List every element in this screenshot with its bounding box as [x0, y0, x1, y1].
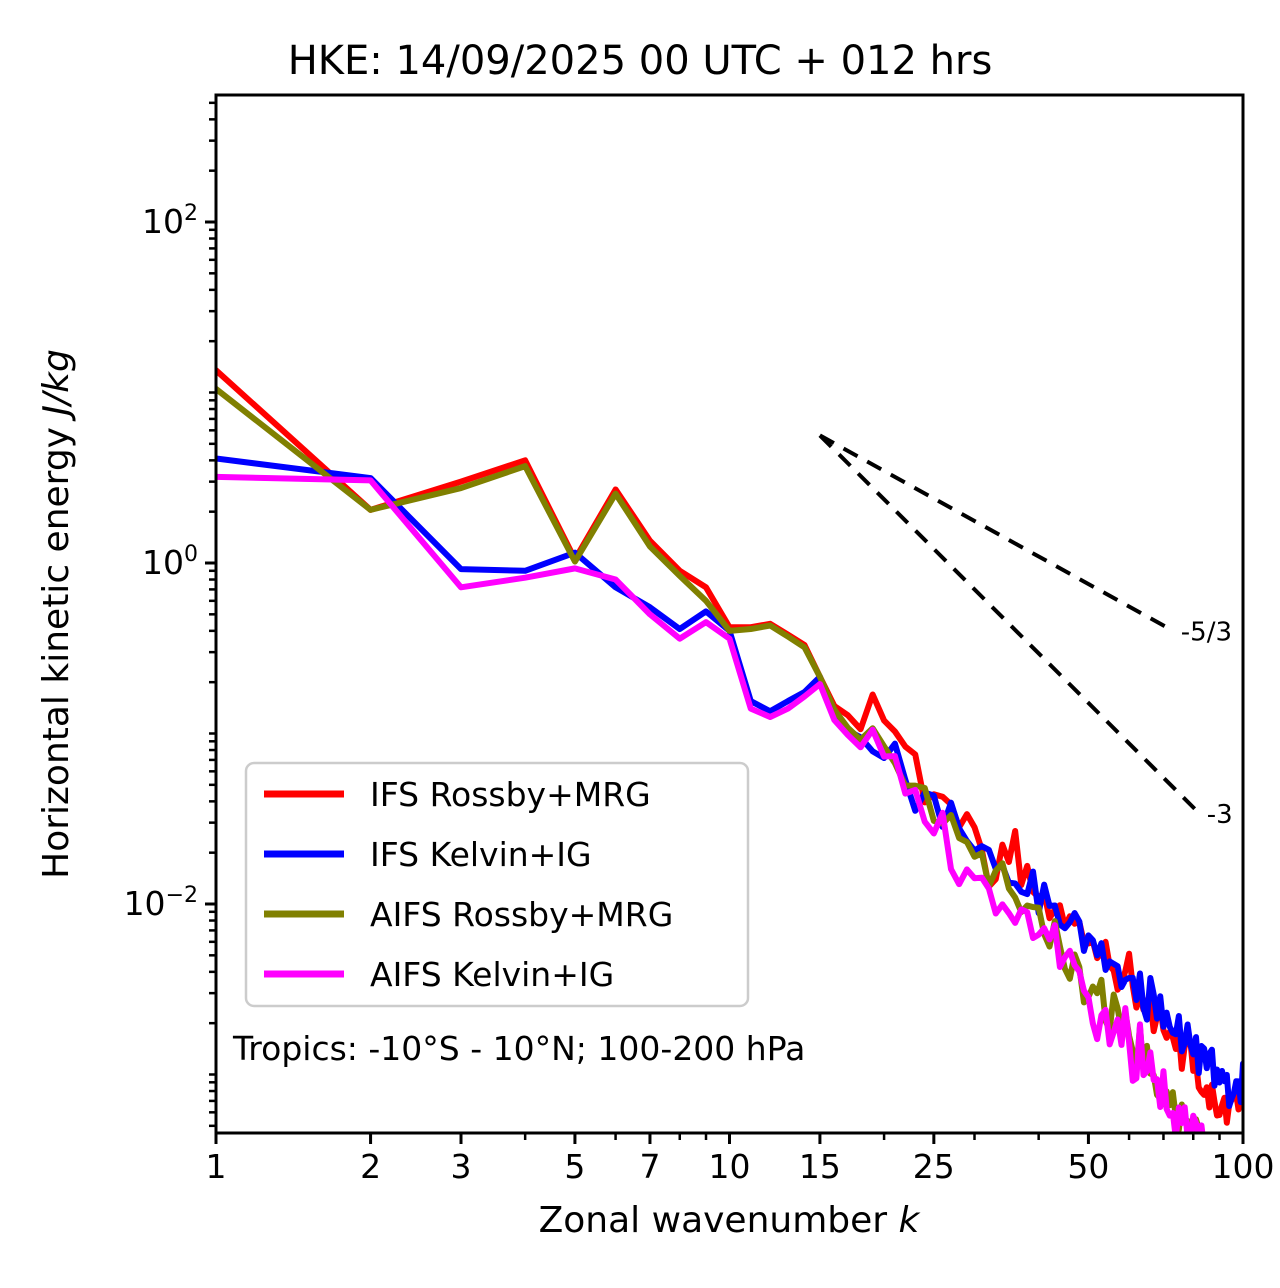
x-tick-label: 5	[564, 1147, 585, 1186]
legend-label: IFS Rossby+MRG	[370, 775, 651, 814]
chart-svg: 1235710152550100 10210010−2 -5/3-3 Zonal…	[0, 0, 1280, 1288]
reference-slope-label: -5/3	[1181, 618, 1232, 648]
reference-slope-label: -3	[1207, 800, 1233, 830]
x-tick-label: 25	[913, 1147, 955, 1186]
x-tick-label: 50	[1067, 1147, 1109, 1186]
x-tick-label: 2	[360, 1147, 381, 1186]
legend: IFS Rossby+MRG IFS Kelvin+IG AIFS Rossby…	[246, 763, 748, 1006]
x-axis-label: Zonal wavenumber k	[539, 1200, 922, 1241]
y-axis-label: Horizontal kinetic energy J/kg	[36, 349, 77, 879]
y-tick-labels: 10210010−2	[124, 201, 198, 923]
x-tick-labels: 1235710152550100	[206, 1147, 1275, 1186]
region-annotation: Tropics: -10°S - 10°N; 100-200 hPa	[232, 1029, 805, 1068]
legend-label: IFS Kelvin+IG	[370, 835, 592, 874]
y-tick-label: 102	[142, 201, 198, 241]
x-tick-label: 15	[799, 1147, 841, 1186]
x-tick-label: 100	[1212, 1147, 1275, 1186]
chart-page: HKE: 14/09/2025 00 UTC + 012 hrs 1235710…	[0, 0, 1280, 1288]
x-tick-label: 1	[206, 1147, 227, 1186]
y-tick-label: 10−2	[124, 883, 198, 923]
legend-label: AIFS Rossby+MRG	[370, 895, 673, 934]
legend-label: AIFS Kelvin+IG	[370, 955, 614, 994]
x-tick-label: 3	[451, 1147, 472, 1186]
x-tick-label: 7	[640, 1147, 661, 1186]
y-tick-label: 100	[142, 542, 198, 582]
x-tick-label: 10	[709, 1147, 751, 1186]
